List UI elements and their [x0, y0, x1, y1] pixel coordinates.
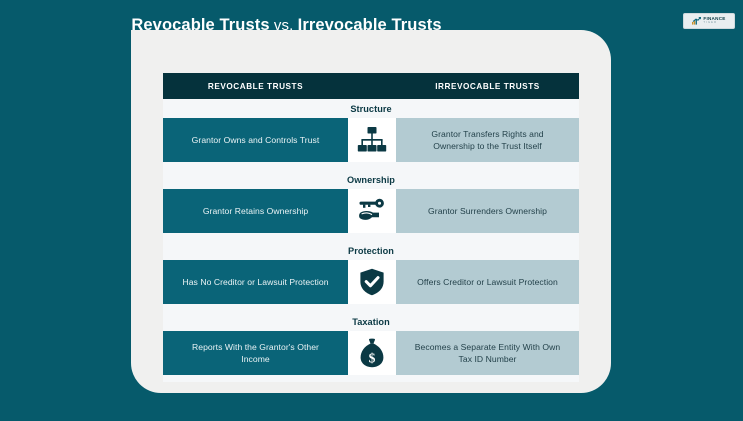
- cell-irrevocable-structure: Grantor Transfers Rights and Ownership t…: [396, 118, 579, 162]
- org-chart-icon: [357, 127, 387, 153]
- key-in-hand-icon: [357, 198, 387, 224]
- table-header-row: REVOCABLE TRUSTS IRREVOCABLE TRUSTS: [163, 73, 579, 99]
- table-row: Reports With the Grantor's Other Income …: [163, 331, 579, 375]
- column-header-revocable: REVOCABLE TRUSTS: [163, 82, 348, 91]
- section-label-protection: Protection: [163, 241, 579, 260]
- section-label-ownership: Ownership: [163, 170, 579, 189]
- cell-irrevocable-protection: Offers Creditor or Lawsuit Protection: [396, 260, 579, 304]
- shield-check-icon: [359, 268, 385, 296]
- icon-cell-taxation: $: [348, 331, 396, 375]
- icon-cell-structure: [348, 118, 396, 162]
- cell-revocable-taxation: Reports With the Grantor's Other Income: [163, 331, 348, 375]
- column-header-irrevocable: IRREVOCABLE TRUSTS: [396, 82, 579, 91]
- icon-cell-ownership: [348, 189, 396, 233]
- cell-revocable-ownership: Grantor Retains Ownership: [163, 189, 348, 233]
- section-label-taxation: Taxation: [163, 312, 579, 331]
- cell-irrevocable-taxation: Becomes a Separate Entity With Own Tax I…: [396, 331, 579, 375]
- table-row: Has No Creditor or Lawsuit Protection Of…: [163, 260, 579, 304]
- chart-arrow-icon: [692, 17, 701, 25]
- icon-cell-protection: [348, 260, 396, 304]
- comparison-table: REVOCABLE TRUSTS IRREVOCABLE TRUSTS Stru…: [163, 73, 579, 382]
- money-bag-icon: $: [359, 338, 385, 368]
- brand-badge[interactable]: FINANCE TIGER: [683, 13, 735, 29]
- brand-subtitle: TIGER: [703, 22, 717, 25]
- table-row: Grantor Retains Ownership Grantor Surren…: [163, 189, 579, 233]
- section-label-structure: Structure: [163, 99, 579, 118]
- row-spacer: [163, 233, 579, 241]
- cell-revocable-structure: Grantor Owns and Controls Trust: [163, 118, 348, 162]
- row-spacer: [163, 304, 579, 312]
- table-row: Grantor Owns and Controls Trust Gra: [163, 118, 579, 162]
- svg-text:$: $: [369, 350, 376, 365]
- row-spacer: [163, 375, 579, 382]
- row-spacer: [163, 162, 579, 170]
- cell-irrevocable-ownership: Grantor Surrenders Ownership: [396, 189, 579, 233]
- content-card: REVOCABLE TRUSTS IRREVOCABLE TRUSTS Stru…: [131, 30, 611, 393]
- cell-revocable-protection: Has No Creditor or Lawsuit Protection: [163, 260, 348, 304]
- infographic-canvas: Revocable Trusts vs. Irrevocable Trusts …: [0, 0, 743, 421]
